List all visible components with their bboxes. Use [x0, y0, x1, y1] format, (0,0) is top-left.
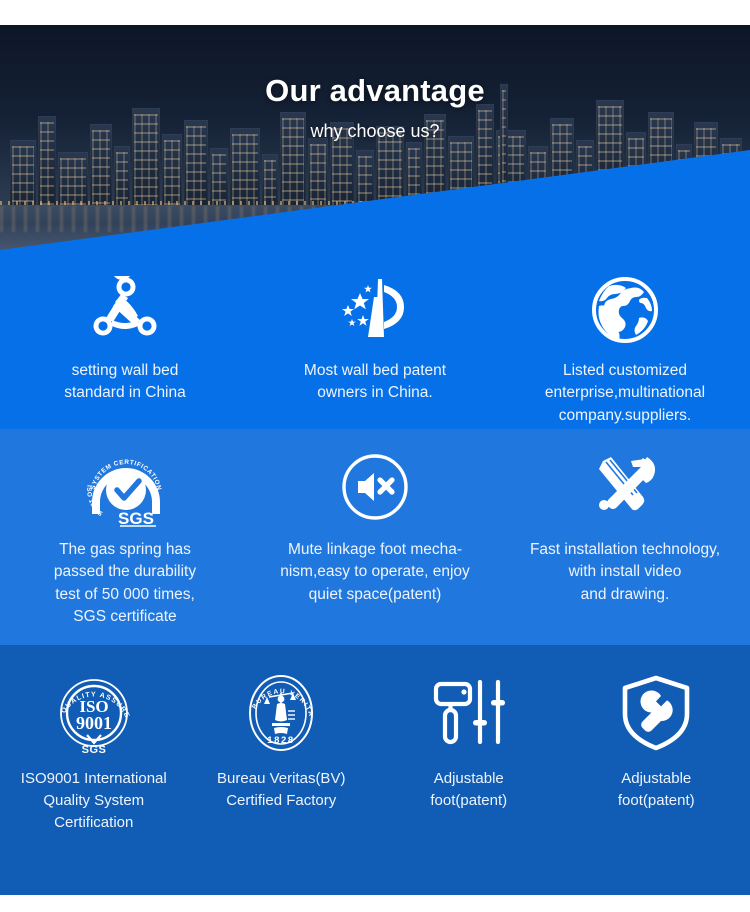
feature-cell-adjustable-foot-shield: Adjustable foot(patent)	[563, 645, 750, 895]
feature-caption: Adjustable foot(patent)	[430, 768, 507, 812]
feature-caption: Mute linkage foot mecha- nism,easy to op…	[280, 539, 470, 606]
bureau-veritas-badge-icon: BUREAU VERITAS	[243, 670, 319, 756]
feature-caption: Fast installation technology, with insta…	[530, 539, 720, 606]
feature-cell-listed-enterprise: Listed customized enterprise,multination…	[500, 250, 750, 429]
slider-adjust-icon	[432, 670, 506, 756]
feature-caption: Listed customized enterprise,multination…	[545, 360, 705, 427]
feature-cell-gas-spring: SYSTEM CERTIFICATION ISO 13485 SGS The g…	[0, 429, 250, 645]
linkage-mechanism-icon	[90, 274, 160, 346]
feature-row-3: QUALITY ASSURED FIRM ISO 9001 SGS ISO900…	[0, 645, 750, 895]
patent-star-tower-icon	[338, 274, 412, 346]
feature-caption: Most wall bed patent owners in China.	[304, 360, 446, 405]
bottom-white-strip	[0, 895, 750, 912]
svg-text:SGS: SGS	[118, 509, 154, 528]
wrench-screwdriver-icon	[589, 449, 661, 525]
iso9001-sgs-badge-icon: QUALITY ASSURED FIRM ISO 9001 SGS	[52, 670, 136, 756]
feature-caption: Adjustable foot(patent)	[618, 768, 695, 812]
feature-caption: Bureau Veritas(BV) Certified Factory	[217, 768, 345, 812]
svg-text:1828: 1828	[267, 735, 295, 746]
feature-cell-bureau-veritas: BUREAU VERITAS	[188, 645, 376, 895]
svg-text:SGS: SGS	[81, 744, 106, 755]
globe-icon	[591, 274, 659, 346]
feature-caption: ISO9001 International Quality System Cer…	[21, 768, 167, 833]
page-title: Our advantage	[265, 73, 485, 109]
hero-banner: Our advantage why choose us?	[0, 25, 750, 250]
feature-cell-setting-standard: setting wall bed standard in China	[0, 250, 250, 429]
svg-text:9001: 9001	[76, 713, 112, 733]
feature-cell-mute-linkage: Mute linkage foot mecha- nism,easy to op…	[250, 429, 500, 645]
feature-caption: setting wall bed standard in China	[64, 360, 186, 405]
feature-row-2: SYSTEM CERTIFICATION ISO 13485 SGS The g…	[0, 429, 750, 645]
feature-caption: The gas spring has passed the durability…	[54, 539, 196, 629]
feature-cell-fast-installation: Fast installation technology, with insta…	[500, 429, 750, 645]
page-subtitle: why choose us?	[310, 121, 439, 142]
mute-speaker-icon	[341, 449, 409, 525]
feature-cell-patent-owners: Most wall bed patent owners in China.	[250, 250, 500, 429]
shield-wrench-icon	[619, 670, 693, 756]
hero-text-block: Our advantage why choose us?	[0, 25, 750, 250]
advantage-page: Our advantage why choose us?	[0, 0, 750, 912]
feature-cell-adjustable-foot-slider: Adjustable foot(patent)	[375, 645, 563, 895]
feature-row-1: setting wall bed standard in China	[0, 250, 750, 429]
feature-cell-iso9001: QUALITY ASSURED FIRM ISO 9001 SGS ISO900…	[0, 645, 188, 895]
top-white-strip	[0, 0, 750, 25]
sgs-iso13485-badge-icon: SYSTEM CERTIFICATION ISO 13485 SGS	[80, 449, 170, 525]
